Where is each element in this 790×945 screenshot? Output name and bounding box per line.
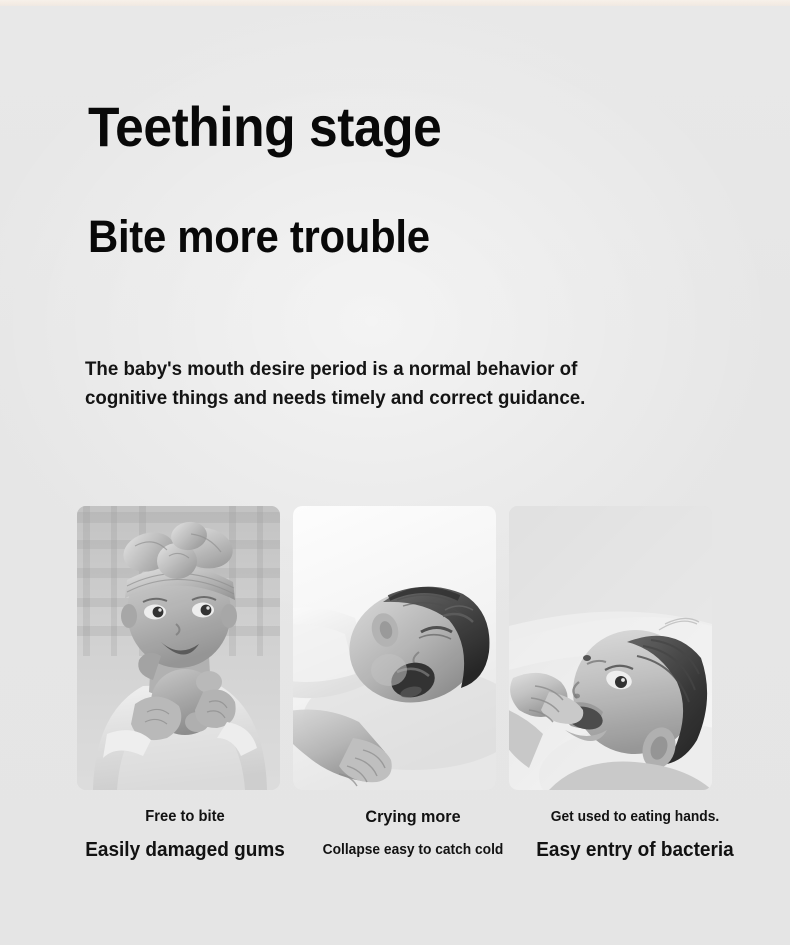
caption-row: Free to bite Easily damaged gums Crying …: [60, 806, 730, 886]
top-accent-strip: [0, 0, 790, 6]
baby-biting-toy-illustration: [77, 506, 280, 790]
page-subtitle: Bite more trouble: [88, 212, 430, 262]
caption-1-top: Free to bite: [66, 806, 304, 828]
caption-3-top: Get used to eating hands.: [507, 806, 764, 828]
promo-page: Teething stage Bite more trouble The bab…: [0, 0, 790, 945]
caption-2-top: Crying more: [294, 806, 532, 828]
caption-2-bottom: Collapse easy to catch cold: [294, 835, 532, 865]
caption-3-bottom: Easy entry of bacteria: [507, 835, 764, 865]
crying-baby-illustration: [293, 506, 496, 790]
page-title: Teething stage: [88, 97, 441, 157]
caption-1-bottom: Easily damaged gums: [66, 835, 304, 865]
photo-eating-hands: [509, 506, 712, 790]
photo-row: [77, 506, 713, 790]
photo-crying-more: [293, 506, 496, 790]
caption-column-1: Free to bite Easily damaged gums: [60, 806, 310, 865]
photo-free-to-bite: [77, 506, 280, 790]
intro-paragraph: The baby's mouth desire period is a norm…: [85, 355, 603, 413]
caption-column-3: Get used to eating hands. Easy entry of …: [500, 806, 770, 865]
baby-hand-in-mouth-illustration: [509, 506, 712, 790]
